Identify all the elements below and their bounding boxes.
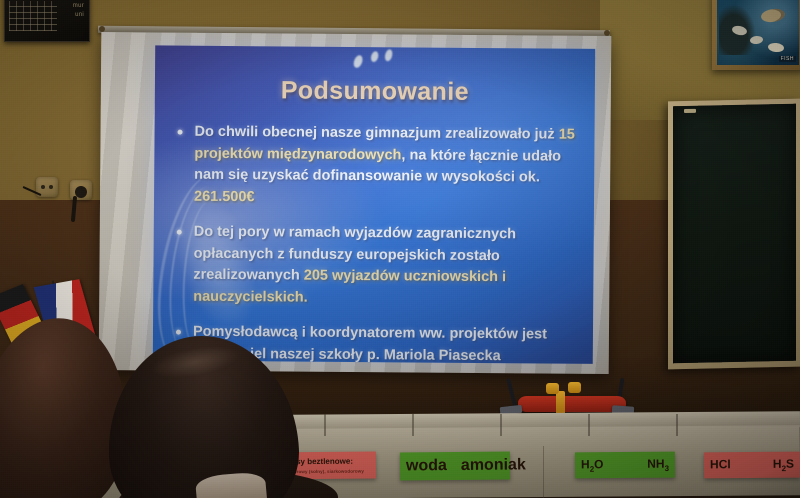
yellow-knob (568, 382, 581, 393)
projector-glare (384, 49, 394, 62)
chalkboard[interactable] (668, 99, 800, 370)
counter-seam (543, 446, 544, 498)
slide-bullet: Do chwili obecnej nasze gimnazjum zreali… (172, 122, 581, 211)
chalkboard-clip (684, 109, 696, 113)
card-word-row: woda amoniak (406, 457, 504, 476)
formula-hcl: HCl (710, 457, 731, 474)
notice-board-line-1: mur (73, 2, 84, 11)
tile-divider (500, 414, 502, 436)
notice-board-text: mur uni (73, 2, 84, 20)
fish-icon (767, 42, 784, 53)
slide-bullet: Do tej pory w ramach wyjazdów zagraniczn… (171, 222, 580, 311)
formula-nh3: NH3 (647, 457, 669, 474)
tile-divider (412, 414, 414, 436)
notice-board: mur uni (4, 0, 90, 42)
projector-glare (370, 50, 380, 63)
slide-title: Podsumowanie (155, 75, 595, 107)
classroom-photo: mur uni FISH (0, 0, 800, 498)
tile-divider (588, 414, 590, 436)
wall-card-formulas-green[interactable]: H2O NH3 (575, 452, 675, 479)
tile-divider (324, 414, 326, 436)
notice-board-grid (9, 1, 57, 31)
card-word-woda: woda (406, 457, 447, 475)
formula-h2o: H2O (581, 457, 604, 474)
poster-caption: FISH (779, 56, 796, 62)
slide-highlight-text: 261.500€ (194, 188, 255, 204)
card-word-amoniak: amoniak (461, 456, 526, 475)
outlet-hole (49, 185, 53, 189)
outlet-hole (41, 185, 45, 189)
presentation-slide: Podsumowanie Do chwili obecnej nasze gim… (153, 45, 595, 363)
poster-image: FISH (717, 0, 799, 65)
chalkboard-surface[interactable] (673, 104, 796, 364)
wall-card-woda-amoniak[interactable]: woda amoniak (400, 452, 510, 481)
slide-bullet-list: Do chwili obecnej nasze gimnazjum zreali… (171, 122, 581, 364)
fish-icon (760, 8, 786, 24)
tile-divider (676, 414, 678, 436)
projector-glare (352, 54, 364, 69)
projection-screen: Podsumowanie Do chwili obecnej nasze gim… (99, 32, 612, 374)
slide-text: Do chwili obecnej nasze gimnazjum zreali… (194, 124, 558, 143)
wall-card-formulas-pink[interactable]: HCl H2S (704, 452, 800, 479)
yellow-knob (546, 383, 559, 394)
notice-board-line-2: uni (73, 11, 84, 20)
card-formula-row: H2O NH3 (581, 457, 669, 474)
fish-poster: FISH (712, 0, 800, 70)
formula-h2s: H2S (773, 457, 794, 474)
card-formula-row: HCl H2S (710, 457, 794, 474)
red-clamp (518, 396, 626, 412)
